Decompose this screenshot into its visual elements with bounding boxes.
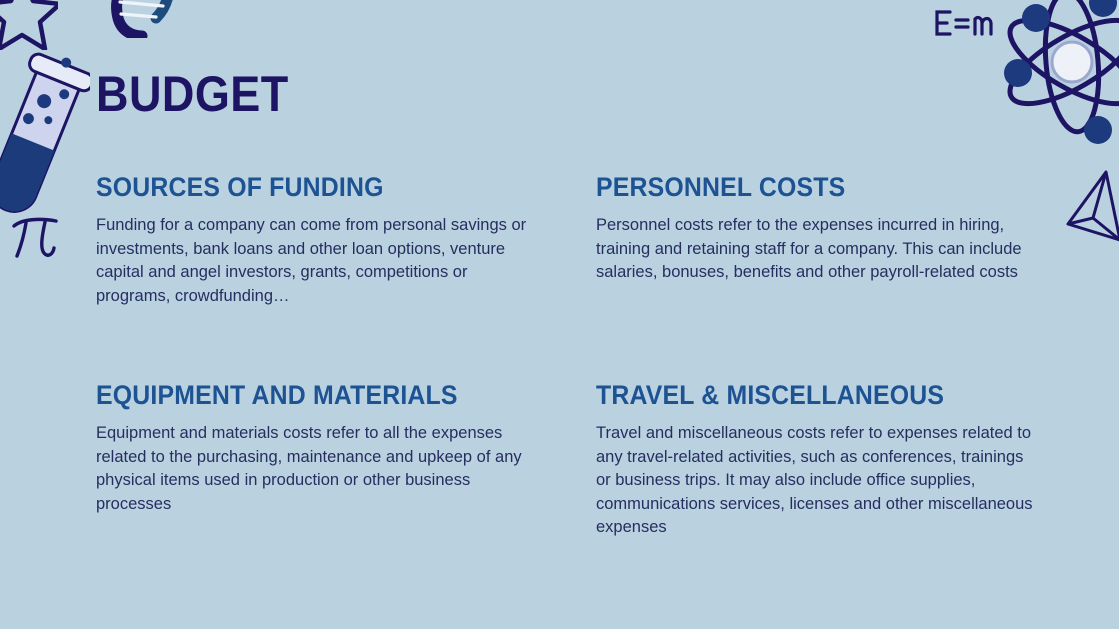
equation-doodle xyxy=(930,2,1002,46)
tetrahedron-icon xyxy=(1062,168,1119,254)
atom-icon xyxy=(1000,0,1119,156)
section-body: Equipment and materials costs refer to a… xyxy=(96,422,541,516)
test-tube-icon xyxy=(0,42,90,232)
slide-canvas: BUDGET SOURCES OF FUNDING Funding for a … xyxy=(0,0,1119,629)
page-title: BUDGET xyxy=(96,66,289,122)
section-heading: SOURCES OF FUNDING xyxy=(96,172,505,202)
section-personnel-costs: PERSONNEL COSTS Personnel costs refer to… xyxy=(596,172,1041,308)
section-travel-and-miscellaneous: TRAVEL & MISCELLANEOUS Travel and miscel… xyxy=(596,380,1041,540)
section-sources-of-funding: SOURCES OF FUNDING Funding for a company… xyxy=(96,172,541,308)
pi-symbol-icon xyxy=(6,206,66,266)
dna-helix-icon xyxy=(104,0,176,38)
sections-grid: SOURCES OF FUNDING Funding for a company… xyxy=(96,172,1026,540)
section-heading: EQUIPMENT AND MATERIALS xyxy=(96,380,505,410)
star-icon xyxy=(0,0,58,50)
section-body: Travel and miscellaneous costs refer to … xyxy=(596,422,1041,540)
section-body: Personnel costs refer to the expenses in… xyxy=(596,214,1041,285)
section-heading: PERSONNEL COSTS xyxy=(596,172,1005,202)
section-body: Funding for a company can come from pers… xyxy=(96,214,541,308)
section-equipment-and-materials: EQUIPMENT AND MATERIALS Equipment and ma… xyxy=(96,380,541,540)
section-heading: TRAVEL & MISCELLANEOUS xyxy=(596,380,1005,410)
